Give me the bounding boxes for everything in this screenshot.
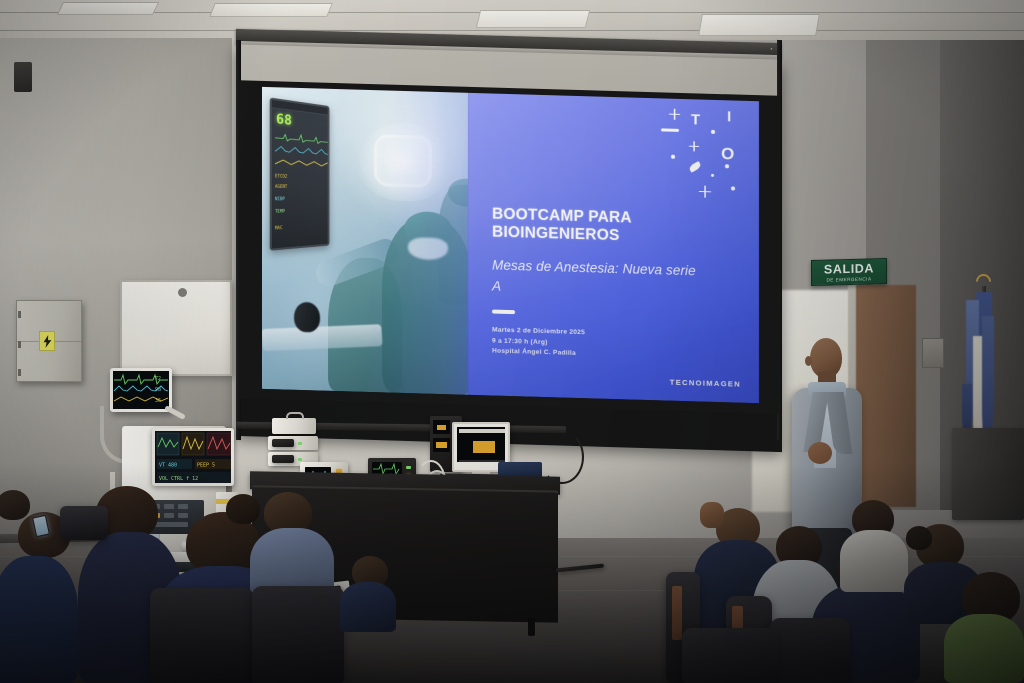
slide-subtitle: Mesas de Anestesia: Nueva serie A xyxy=(492,256,707,303)
slide-divider-rule xyxy=(492,310,515,314)
presenter-hands xyxy=(808,442,832,464)
decor-dot xyxy=(711,130,715,134)
svg-text:PEEP 5: PEEP 5 xyxy=(197,463,215,469)
chair-armrest xyxy=(672,586,682,640)
status-led xyxy=(298,458,302,461)
electrical-panel[interactable] xyxy=(16,300,82,382)
electrical-hazard-sticker xyxy=(39,331,55,351)
patient-monitor-screen: 72 98 36 xyxy=(110,368,172,412)
anesthesia-screen-content: VT 480 PEEP 5 VOL CTRL f 12 xyxy=(155,431,233,485)
panel-hinge xyxy=(18,341,21,348)
svg-text:36: 36 xyxy=(155,398,161,404)
svg-text:98: 98 xyxy=(155,387,161,393)
slide-photo-operating-room: 68 ETCO2 AGENT NIBP TEMP MAC xyxy=(262,87,468,395)
decor-dot xyxy=(711,174,714,177)
decor-letter-i: I xyxy=(727,108,731,125)
tower-screen-lower xyxy=(433,438,450,452)
tio-decorative-cluster: T I O xyxy=(649,106,745,201)
audience-head xyxy=(226,494,260,524)
chair[interactable] xyxy=(682,628,778,683)
decor-letter-o: O xyxy=(721,144,734,164)
exit-sign-primary-label: SALIDA xyxy=(824,262,874,276)
decor-dot xyxy=(725,164,729,168)
ceiling-light-panel xyxy=(698,14,820,36)
ceiling-light-panel xyxy=(476,10,590,28)
control-button[interactable] xyxy=(178,504,188,509)
control-button[interactable] xyxy=(164,504,174,509)
projection-screen-surface: 68 ETCO2 AGENT NIBP TEMP MAC xyxy=(239,80,779,414)
transport-monitor-case xyxy=(272,418,316,434)
decor-dash xyxy=(661,128,679,132)
panel-hinge xyxy=(18,311,21,318)
slide-title-line-2: BIOINGENIEROS xyxy=(492,223,632,245)
audience-torso xyxy=(340,582,396,632)
decor-leaf-icon xyxy=(688,161,702,173)
tower-trace-upper xyxy=(433,420,450,434)
wall-speaker xyxy=(14,62,32,92)
lecture-room-photo: SALIDA DE EMERGENCIA ● xyxy=(0,0,1024,683)
ceiling-light-panel xyxy=(57,2,159,15)
slide-title: BOOTCAMP PARA BIOINGENIEROS xyxy=(492,206,632,246)
tower-screen-upper xyxy=(433,420,450,434)
table-foot xyxy=(528,618,535,636)
slide-event-details: Martes 2 de Diciembre 2025 9 a 17:30 h (… xyxy=(492,326,585,361)
wooden-door[interactable] xyxy=(856,285,916,507)
svg-text:VOL CTRL f 12: VOL CTRL f 12 xyxy=(159,476,198,482)
decor-letter-t: T xyxy=(691,111,700,128)
audience-head xyxy=(0,490,30,520)
photo-gradient-overlay xyxy=(262,87,468,395)
housing-brand-text: ● xyxy=(770,46,773,51)
chair[interactable] xyxy=(770,618,850,683)
motion-sensor-icon xyxy=(178,288,187,297)
ceiling-seam xyxy=(0,30,1024,31)
panel-hinge xyxy=(18,369,21,376)
anesthesia-display-screen: VT 480 PEEP 5 VOL CTRL f 12 xyxy=(152,428,234,486)
decor-sparkle-icon xyxy=(689,141,699,151)
status-led xyxy=(298,442,302,445)
presentation-slide: 68 ETCO2 AGENT NIBP TEMP MAC xyxy=(262,87,759,403)
audience-head xyxy=(906,526,932,550)
wall-vent xyxy=(922,338,944,368)
emergency-exit-sign: SALIDA DE EMERGENCIA xyxy=(811,258,887,286)
module-rack-unit xyxy=(268,436,318,450)
lcd-screen xyxy=(457,427,505,462)
exit-sign-secondary-label: DE EMERGENCIA xyxy=(826,276,871,282)
tecnoimagen-logo: TECNOIMAGEN xyxy=(670,378,741,389)
decor-sparkle-icon xyxy=(669,109,680,120)
audience-hand xyxy=(700,502,724,528)
audience-torso xyxy=(840,530,908,592)
lcd-screen-content xyxy=(457,427,505,462)
control-button[interactable] xyxy=(164,513,174,518)
whiteboard xyxy=(120,280,232,376)
audience-torso xyxy=(944,614,1024,683)
podium-block xyxy=(952,428,1024,520)
decor-dot xyxy=(671,155,675,159)
chair[interactable] xyxy=(60,506,108,540)
decor-sparkle-icon xyxy=(699,185,711,197)
monitor-mount-arm xyxy=(164,405,186,420)
patient-monitor-traces: 72 98 36 xyxy=(113,371,169,409)
chair[interactable] xyxy=(252,586,344,683)
decor-dot xyxy=(731,186,735,190)
chair[interactable] xyxy=(150,588,254,683)
presenter-ear xyxy=(805,356,812,366)
tower-trace-lower xyxy=(433,438,450,452)
slide-content-panel: T I O BOOTCAMP PARA BIOINGENIER xyxy=(468,93,759,403)
status-led xyxy=(406,466,411,469)
case-handle[interactable] xyxy=(286,412,304,419)
ceiling-light-panel xyxy=(209,3,333,17)
svg-text:VT 480: VT 480 xyxy=(159,463,177,469)
module-slot[interactable] xyxy=(272,455,294,463)
audience-torso xyxy=(0,556,78,683)
module-slot[interactable] xyxy=(272,439,294,447)
flag-fold-blue xyxy=(982,316,994,446)
svg-text:72: 72 xyxy=(155,376,161,382)
slide-meta-venue: Hospital Ángel C. Padilla xyxy=(492,347,585,360)
control-button[interactable] xyxy=(178,513,188,518)
